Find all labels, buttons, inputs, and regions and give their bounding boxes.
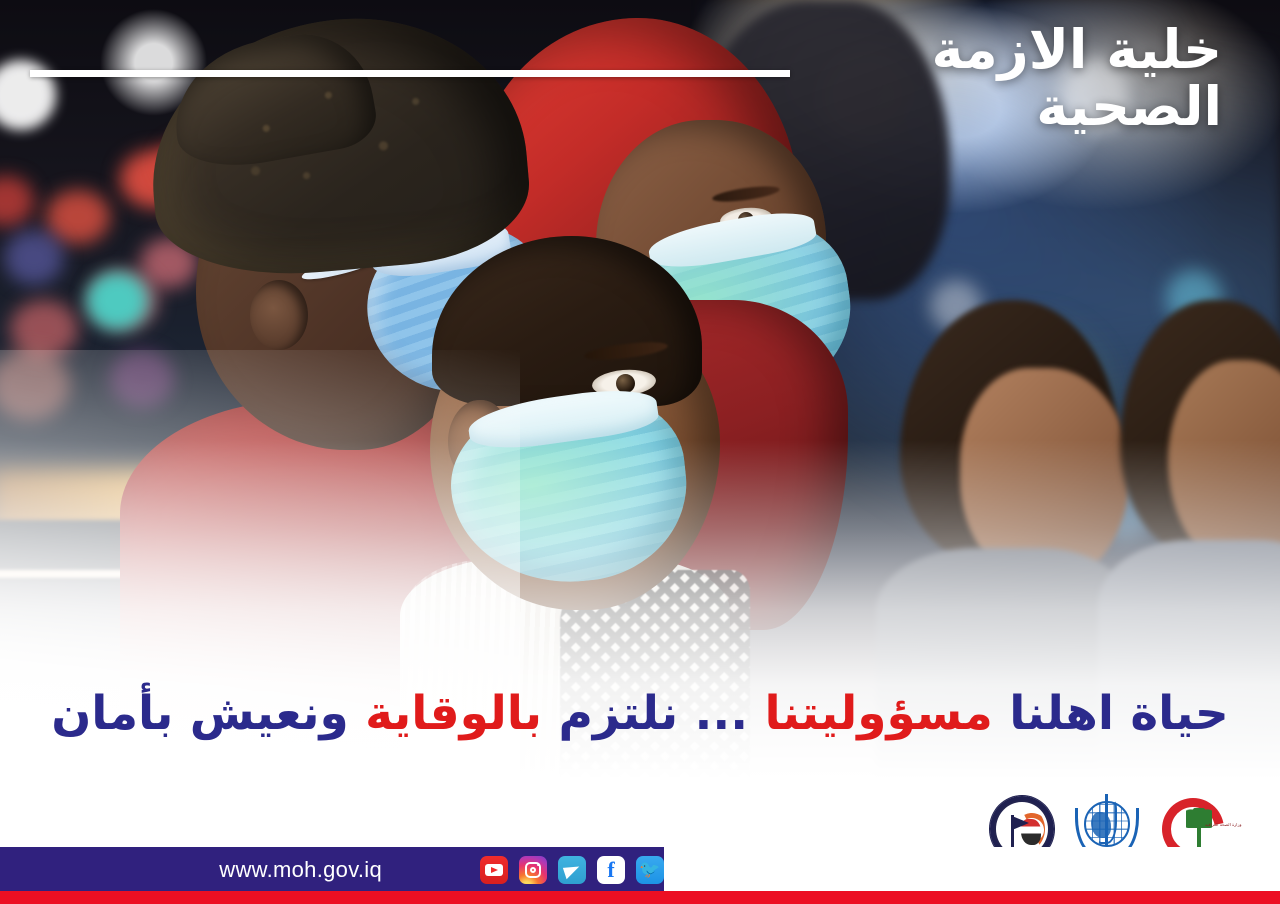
twitter-bird: 🐦 (639, 862, 660, 879)
instagram-frame (525, 862, 541, 878)
poster: خلية الازمة الصحية حياة اهلنا مسؤوليتنا … (0, 0, 1280, 904)
palm-trunk (1197, 824, 1201, 848)
telegram-icon[interactable] (558, 856, 586, 884)
bokeh-light (86, 272, 148, 330)
emblem-inner (999, 805, 1045, 853)
bokeh-light (4, 230, 64, 285)
capped-boy-ear (250, 280, 308, 350)
instagram-icon[interactable] (519, 856, 547, 884)
bokeh-light (46, 190, 110, 244)
slogan-part-3: ونعيش بأمان (51, 686, 365, 741)
facebook-letter-f: f (607, 859, 614, 881)
slogan-highlight-1: مسؤوليتنا (764, 686, 992, 741)
emblem-top-caption: خلية الازمة (990, 802, 1054, 807)
footer-white-area (664, 847, 1280, 891)
slogan-highlight-2: بالوقاية (365, 686, 542, 741)
facebook-icon[interactable]: f (597, 856, 625, 884)
slogan: حياة اهلنا مسؤوليتنا ... نلتزم بالوقاية … (0, 686, 1280, 741)
youtube-play-triangle (491, 867, 498, 873)
footer-red-strip (0, 891, 1280, 904)
slogan-part-2: ... نلتزم (542, 686, 764, 741)
instagram-lens (530, 867, 536, 873)
ministry-caption: وزارة الصحة العراقية (1204, 822, 1242, 828)
social-links: f 🐦 (480, 856, 664, 884)
footer-bar: f 🐦 www.moh.gov.iq (0, 847, 664, 893)
header-rule (30, 70, 790, 77)
telegram-paper-plane (563, 861, 581, 879)
website-url[interactable]: www.moh.gov.iq (219, 857, 382, 883)
twitter-icon[interactable]: 🐦 (636, 856, 664, 884)
youtube-icon[interactable] (480, 856, 508, 884)
slogan-part-1: حياة اهلنا (993, 686, 1229, 741)
page-title: خلية الازمة الصحية (792, 22, 1222, 135)
emblem-flag (1012, 816, 1029, 830)
instagram-dot (537, 864, 540, 867)
